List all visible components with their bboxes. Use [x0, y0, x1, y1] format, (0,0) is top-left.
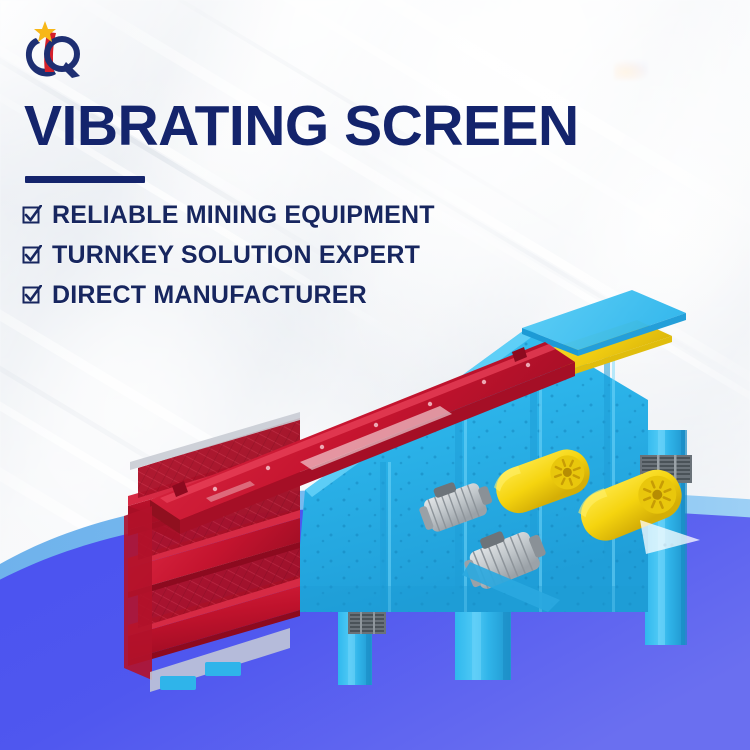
product-banner: VIBRATING SCREEN RELIABLE MINING EQUIPME…: [0, 0, 750, 750]
title-underline: [25, 176, 145, 183]
list-item-label: RELIABLE MINING EQUIPMENT: [52, 201, 435, 230]
page-title: VIBRATING SCREEN: [24, 98, 579, 155]
list-item: DIRECT MANUFACTURER: [22, 280, 435, 310]
brand-logo[interactable]: [14, 18, 86, 86]
list-item: RELIABLE MINING EQUIPMENT: [22, 200, 435, 230]
checkbox-checked-icon: [22, 285, 42, 305]
checkbox-checked-icon: [22, 205, 42, 225]
checkbox-checked-icon: [22, 245, 42, 265]
list-item-label: TURNKEY SOLUTION EXPERT: [52, 241, 420, 270]
feature-list: RELIABLE MINING EQUIPMENT TURNKEY SOLUTI…: [22, 200, 435, 320]
list-item: TURNKEY SOLUTION EXPERT: [22, 240, 435, 270]
list-item-label: DIRECT MANUFACTURER: [52, 281, 367, 310]
ground-fill: [0, 506, 750, 750]
